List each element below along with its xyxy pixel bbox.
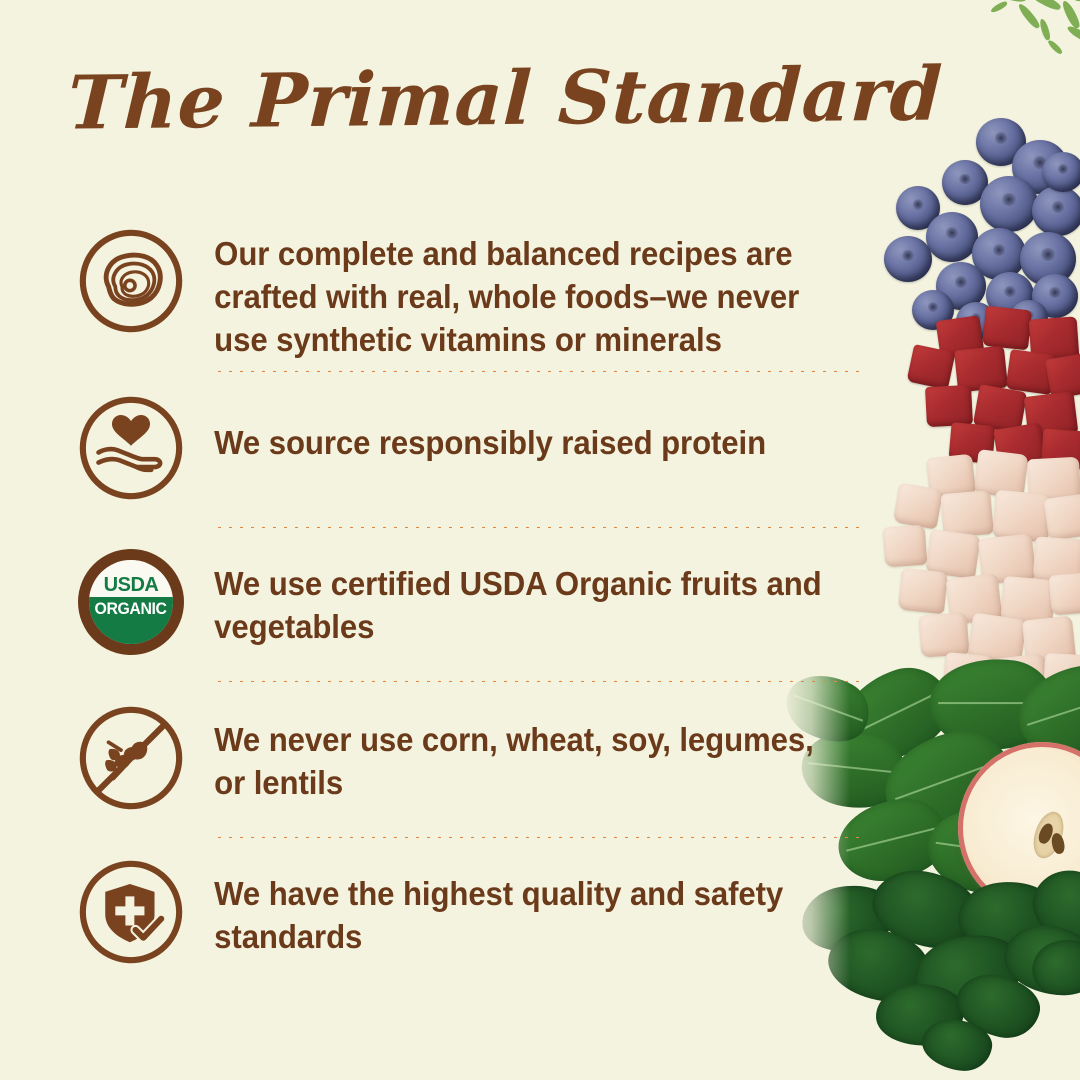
dotted-rule	[214, 834, 860, 838]
list-item: USDA ORGANIC We use certified USDA Organ…	[0, 533, 900, 673]
usda-organic-seal-icon: USDA ORGANIC	[72, 543, 190, 661]
dotted-rule	[214, 368, 860, 372]
apple-half-image	[958, 742, 1080, 914]
no-grains-prohibited-icon	[72, 699, 190, 817]
steak-meat-cut-icon	[72, 222, 190, 340]
divider	[214, 363, 860, 377]
page-title: The Primal Standard	[0, 57, 1012, 142]
standards-list: Our complete and balanced recipes are cr…	[0, 204, 900, 973]
usda-label: USDA	[104, 575, 159, 597]
apple-seed	[1037, 821, 1056, 845]
divider	[214, 673, 860, 687]
divider	[214, 519, 860, 533]
usda-seal-bottom: ORGANIC	[89, 597, 173, 644]
apple-core	[1028, 808, 1068, 862]
list-item-label: We source responsibly raised protein	[190, 377, 850, 465]
dotted-rule	[214, 524, 860, 528]
usda-seal-ring: USDA ORGANIC	[78, 549, 184, 655]
dotted-rule	[214, 678, 860, 682]
primal-standard-graphic: The Primal Standard Our complete and bal…	[0, 0, 1080, 1080]
apple-seed	[1050, 832, 1066, 855]
list-item: Our complete and balanced recipes are cr…	[0, 204, 900, 363]
divider	[214, 829, 860, 843]
usda-seal-top: USDA	[89, 560, 173, 597]
hand-holding-heart-icon	[72, 389, 190, 507]
list-item: We never use corn, wheat, soy, legumes, …	[0, 687, 900, 829]
apple-skin	[958, 742, 1080, 914]
list-item: We source responsibly raised protein	[0, 377, 900, 519]
list-item-label: We use certified USDA Organic fruits and…	[190, 533, 850, 649]
list-item-label: We have the highest quality and safety s…	[190, 843, 850, 959]
list-item: We have the highest quality and safety s…	[0, 843, 900, 973]
organic-label: ORGANIC	[95, 597, 167, 618]
usda-seal-face: USDA ORGANIC	[89, 560, 173, 644]
list-item-label: We never use corn, wheat, soy, legumes, …	[190, 687, 850, 805]
shield-check-safety-icon	[72, 853, 190, 971]
list-item-label: Our complete and balanced recipes are cr…	[190, 204, 850, 363]
